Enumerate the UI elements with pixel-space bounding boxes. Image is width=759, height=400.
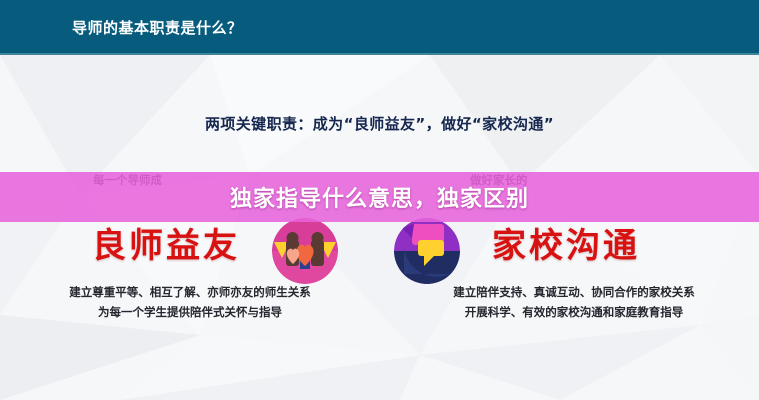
heading-left: 良师益友 xyxy=(92,218,240,267)
page-title: 导师的基本职责是什么？ xyxy=(72,17,243,38)
bullet-right-1: 建立陪伴支持、真诚互动、协同合作的家校关系 xyxy=(404,282,744,302)
slide-image: 导师的基本职责是什么？ 两项关键职责：成为“良师益友”，做好“家校沟通” 每一个… xyxy=(0,0,759,400)
bullet-left-2: 为每一个学生提供陪伴式关怀与指导 xyxy=(20,302,360,322)
two-people-hearts-icon xyxy=(272,218,338,284)
overlay-title: 独家指导什么意思，独家区别 xyxy=(0,172,759,222)
bullet-left-1: 建立尊重平等、相互了解、亦师亦友的师生关系 xyxy=(20,282,360,302)
bullet-right-2: 开展科学、有效的家校沟通和家庭教育指导 xyxy=(404,302,744,322)
slide-header-bar: 导师的基本职责是什么？ xyxy=(0,0,759,55)
speech-bubble-icon xyxy=(394,218,460,284)
slide-subtitle: 两项关键职责：成为“良师益友”，做好“家校沟通” xyxy=(0,113,759,134)
bullets-right: 建立陪伴支持、真诚互动、协同合作的家校关系 开展科学、有效的家校沟通和家庭教育指… xyxy=(404,282,744,322)
heading-right: 家校沟通 xyxy=(492,218,640,267)
bullets-left: 建立尊重平等、相互了解、亦师亦友的师生关系 为每一个学生提供陪伴式关怀与指导 xyxy=(20,282,360,322)
